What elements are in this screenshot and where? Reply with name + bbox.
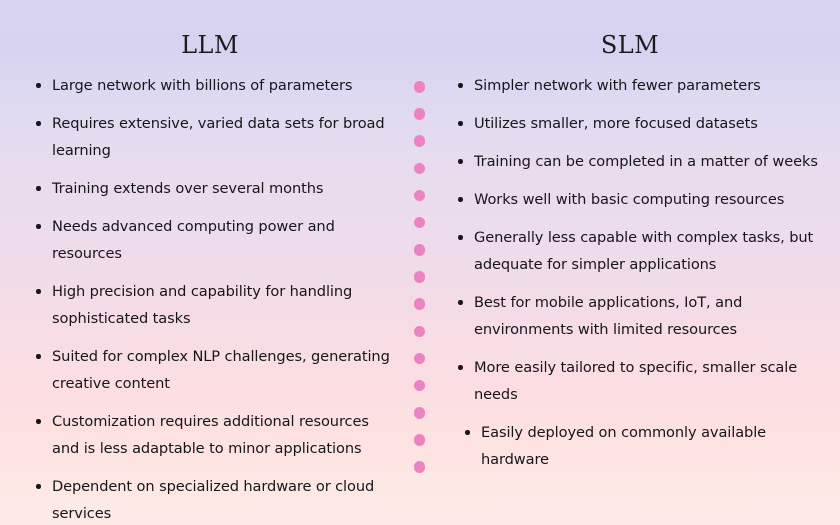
bullet-dot-icon <box>36 484 41 489</box>
heading-cell-llm: LLM <box>0 0 420 72</box>
list-item-text: Suited for complex NLP challenges, gener… <box>52 348 390 392</box>
list-item: Dependent on specialized hardware or clo… <box>30 473 392 525</box>
divider-dot-icon <box>414 353 426 365</box>
divider-dot-icon <box>414 163 426 175</box>
divider-dot-icon <box>414 190 426 202</box>
list-item: Suited for complex NLP challenges, gener… <box>30 343 392 397</box>
list-item: Works well with basic computing resource… <box>452 186 824 213</box>
divider-dot-icon <box>414 217 426 229</box>
column-llm: Large network with billions of parameter… <box>30 72 392 525</box>
list-item: Large network with billions of parameter… <box>30 72 392 99</box>
bullet-dot-icon <box>36 83 41 88</box>
bullet-dot-icon <box>458 365 463 370</box>
list-item-text: More easily tailored to specific, smalle… <box>474 359 797 403</box>
list-item-text: Generally less capable with complex task… <box>474 229 813 273</box>
list-item-text: Training extends over several months <box>52 180 323 197</box>
list-item: Customization requires additional resour… <box>30 408 392 462</box>
list-item-text: High precision and capability for handli… <box>52 283 352 327</box>
column-heading-slm: SLM <box>601 15 659 57</box>
dotted-divider <box>413 81 426 473</box>
list-item-text: Customization requires additional resour… <box>52 413 369 457</box>
bullet-dot-icon <box>36 289 41 294</box>
list-item: Best for mobile applications, IoT, and e… <box>452 289 824 343</box>
list-item-text: Dependent on specialized hardware or clo… <box>52 478 374 522</box>
column-headings: LLM SLM <box>0 0 840 72</box>
list-item: Needs advanced computing power and resou… <box>30 213 392 267</box>
list-item: More easily tailored to specific, smalle… <box>452 354 824 408</box>
divider-dot-icon <box>414 298 426 310</box>
bullet-dot-icon <box>465 430 470 435</box>
list-item: Easily deployed on commonly available ha… <box>459 419 824 473</box>
list-item-text: Easily deployed on commonly available ha… <box>481 424 766 468</box>
list-item-text: Simpler network with fewer parameters <box>474 77 761 94</box>
bullet-list-slm: Simpler network with fewer parameters Ut… <box>452 72 824 473</box>
bullet-dot-icon <box>36 121 41 126</box>
column-slm: Simpler network with fewer parameters Ut… <box>452 72 824 473</box>
list-item-text: Best for mobile applications, IoT, and e… <box>474 294 742 338</box>
bullet-dot-icon <box>458 159 463 164</box>
divider-dot-icon <box>414 135 426 147</box>
bullet-dot-icon <box>458 235 463 240</box>
bullet-dot-icon <box>36 419 41 424</box>
bullet-list-llm: Large network with billions of parameter… <box>30 72 392 525</box>
list-item-text: Training can be completed in a matter of… <box>474 153 818 170</box>
list-item-text: Needs advanced computing power and resou… <box>52 218 335 262</box>
bullet-dot-icon <box>458 300 463 305</box>
bullet-dot-icon <box>36 224 41 229</box>
comparison-slide: LLM SLM Large network with billions of p… <box>0 0 840 525</box>
list-item: High precision and capability for handli… <box>30 278 392 332</box>
list-item: Generally less capable with complex task… <box>452 224 824 278</box>
heading-cell-slm: SLM <box>420 0 840 72</box>
divider-dot-icon <box>414 380 426 392</box>
divider-dot-icon <box>414 81 426 93</box>
list-item-text: Large network with billions of parameter… <box>52 77 352 94</box>
bullet-dot-icon <box>36 186 41 191</box>
divider-dot-icon <box>414 244 426 256</box>
column-heading-llm: LLM <box>181 15 239 57</box>
list-item: Training can be completed in a matter of… <box>452 148 824 175</box>
list-item: Requires extensive, varied data sets for… <box>30 110 392 164</box>
bullet-dot-icon <box>458 197 463 202</box>
divider-dot-icon <box>414 108 426 120</box>
divider-dot-icon <box>414 326 426 338</box>
list-item-text: Requires extensive, varied data sets for… <box>52 115 385 159</box>
list-item: Simpler network with fewer parameters <box>452 72 824 99</box>
bullet-dot-icon <box>36 354 41 359</box>
list-item-text: Utilizes smaller, more focused datasets <box>474 115 758 132</box>
list-item: Utilizes smaller, more focused datasets <box>452 110 824 137</box>
bullet-dot-icon <box>458 83 463 88</box>
divider-dot-icon <box>414 434 426 446</box>
divider-dot-icon <box>414 407 426 419</box>
list-item-text: Works well with basic computing resource… <box>474 191 784 208</box>
bullet-dot-icon <box>458 121 463 126</box>
divider-dot-icon <box>414 461 426 473</box>
divider-dot-icon <box>414 271 426 283</box>
list-item: Training extends over several months <box>30 175 392 202</box>
